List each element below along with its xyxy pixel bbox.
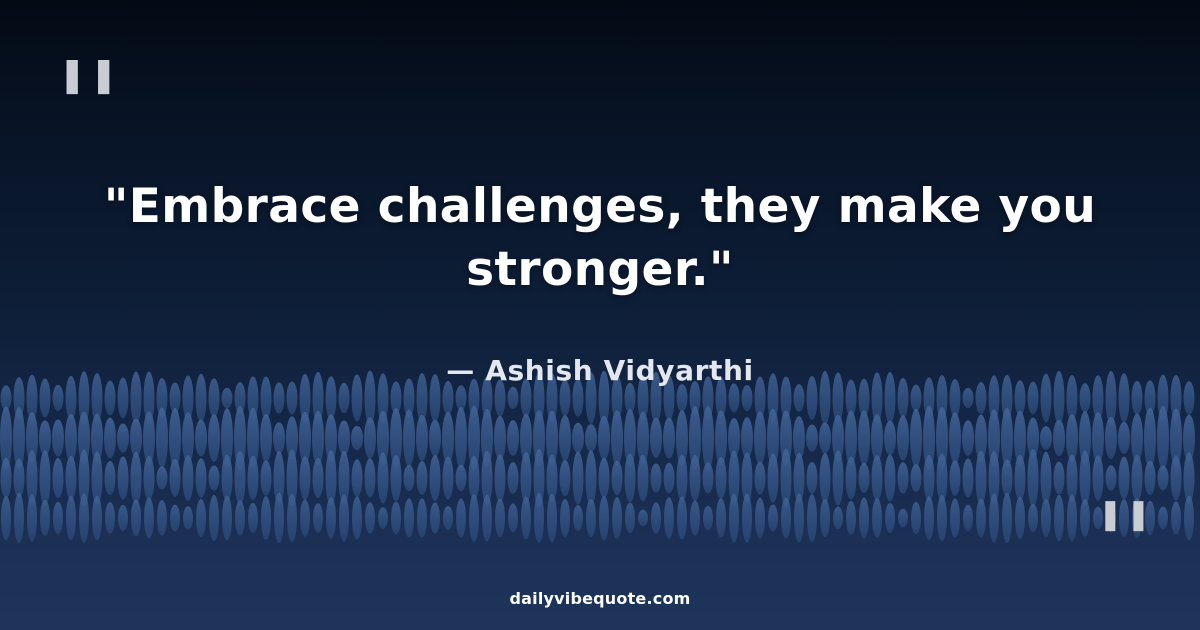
site-watermark: dailyvibequote.com bbox=[0, 589, 1200, 608]
quote-content: "Embrace challenges, they make you stron… bbox=[0, 0, 1200, 630]
quote-card: ❚❚ ❚❚ "Embrace challenges, they make you… bbox=[0, 0, 1200, 630]
quote-text: "Embrace challenges, they make you stron… bbox=[95, 175, 1105, 302]
quote-author: — Ashish Vidyarthi bbox=[446, 354, 753, 387]
